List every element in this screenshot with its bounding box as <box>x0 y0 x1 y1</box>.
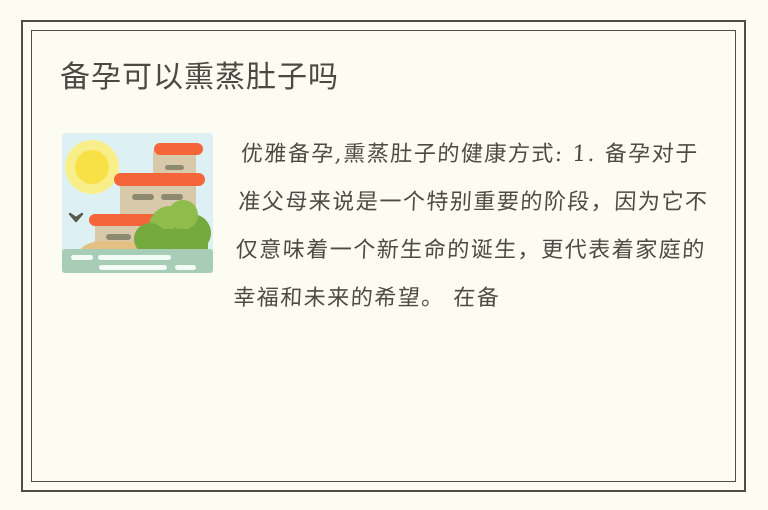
article-container: 备孕可以熏蒸肚子吗 <box>32 31 735 481</box>
page-title: 备孕可以熏蒸肚子吗 <box>60 59 709 97</box>
decorative-outer-frame: 备孕可以熏蒸肚子吗 <box>21 20 746 492</box>
village-landscape-illustration <box>60 129 215 279</box>
decorative-inner-frame: 备孕可以熏蒸肚子吗 <box>31 30 736 482</box>
article-paragraph: 优雅备孕,熏蒸肚子的健康方式: 1. 备孕对于准父母来说是一个特别重要的阶段，因… <box>232 131 714 323</box>
article-body: 优雅备孕,熏蒸肚子的健康方式: 1. 备孕对于准父母来说是一个特别重要的阶段，因… <box>60 127 709 323</box>
